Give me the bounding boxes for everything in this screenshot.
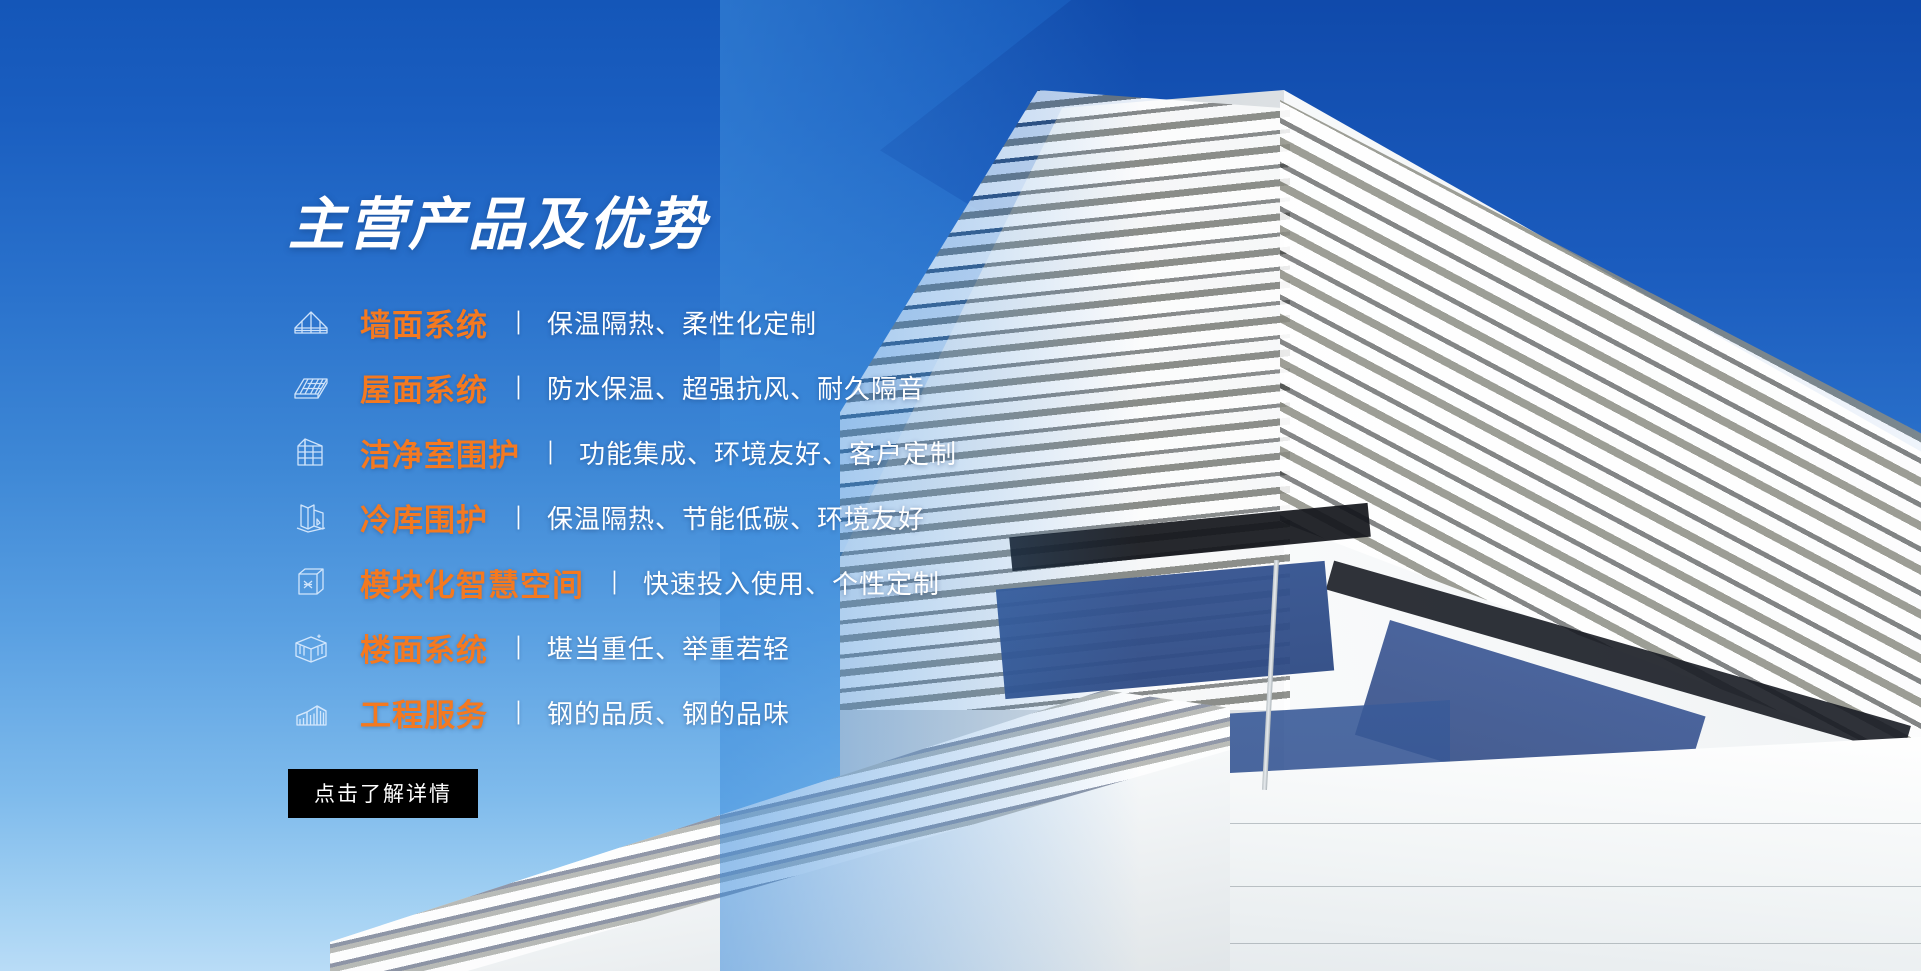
roof-system-icon [288, 365, 334, 409]
product-category: 工程服务 [360, 690, 488, 735]
overhang-shadow-right [1326, 561, 1911, 755]
wall-system-icon [288, 300, 334, 344]
product-description: 钢的品质、钢的品味 [547, 694, 790, 731]
separator: 丨 [512, 369, 526, 405]
list-item[interactable]: 屋面系统 丨 防水保温、超强抗风、耐久隔音 [288, 355, 1268, 420]
product-description: 功能集成、环境友好、客户定制 [579, 434, 957, 471]
navy-spandrel-right [1355, 620, 1706, 831]
list-item[interactable]: 工程服务 丨 钢的品质、钢的品味 [288, 680, 1268, 745]
facade-banding-right [1280, 100, 1921, 780]
product-category: 洁净室围护 [360, 430, 520, 475]
list-item[interactable]: 楼面系统 丨 堪当重任、举重若轻 [288, 615, 1268, 680]
separator: 丨 [544, 434, 558, 470]
separator: 丨 [608, 564, 622, 600]
separator: 丨 [512, 304, 526, 340]
separator: 丨 [512, 629, 526, 665]
product-category: 模块化智慧空间 [360, 560, 584, 605]
product-category: 墙面系统 [360, 300, 488, 345]
product-category: 楼面系统 [360, 625, 488, 670]
learn-more-button[interactable]: 点击了解详情 [288, 769, 478, 818]
product-description: 快速投入使用、个性定制 [643, 564, 940, 601]
product-description: 防水保温、超强抗风、耐久隔音 [547, 369, 925, 406]
promo-banner: 主营产品及优势 墙面系统 丨 保温隔热、柔性化定制 [0, 0, 1921, 971]
modular-smart-space-icon [288, 560, 334, 604]
content-panel: 主营产品及优势 墙面系统 丨 保温隔热、柔性化定制 [288, 196, 1268, 818]
list-item[interactable]: 墙面系统 丨 保温隔热、柔性化定制 [288, 290, 1268, 355]
floor-system-icon [288, 625, 334, 669]
podium-wall [1160, 735, 1921, 971]
product-category: 屋面系统 [360, 365, 488, 410]
cleanroom-enclosure-icon [288, 430, 334, 474]
list-item[interactable]: 模块化智慧空间 丨 快速投入使用、个性定制 [288, 550, 1268, 615]
product-category: 冷库围护 [360, 495, 488, 540]
cold-storage-enclosure-icon [288, 495, 334, 539]
product-list: 墙面系统 丨 保温隔热、柔性化定制 屋面系统 丨 防水保温、超强抗 [288, 290, 1268, 745]
page-title: 主营产品及优势 [288, 196, 1268, 256]
engineering-service-icon [288, 690, 334, 734]
separator: 丨 [512, 499, 526, 535]
separator: 丨 [512, 694, 526, 730]
product-description: 堪当重任、举重若轻 [547, 629, 790, 666]
list-item[interactable]: 洁净室围护 丨 功能集成、环境友好、客户定制 [288, 420, 1268, 485]
product-description: 保温隔热、柔性化定制 [547, 304, 817, 341]
product-description: 保温隔热、节能低碳、环境友好 [547, 499, 925, 536]
list-item[interactable]: 冷库围护 丨 保温隔热、节能低碳、环境友好 [288, 485, 1268, 550]
